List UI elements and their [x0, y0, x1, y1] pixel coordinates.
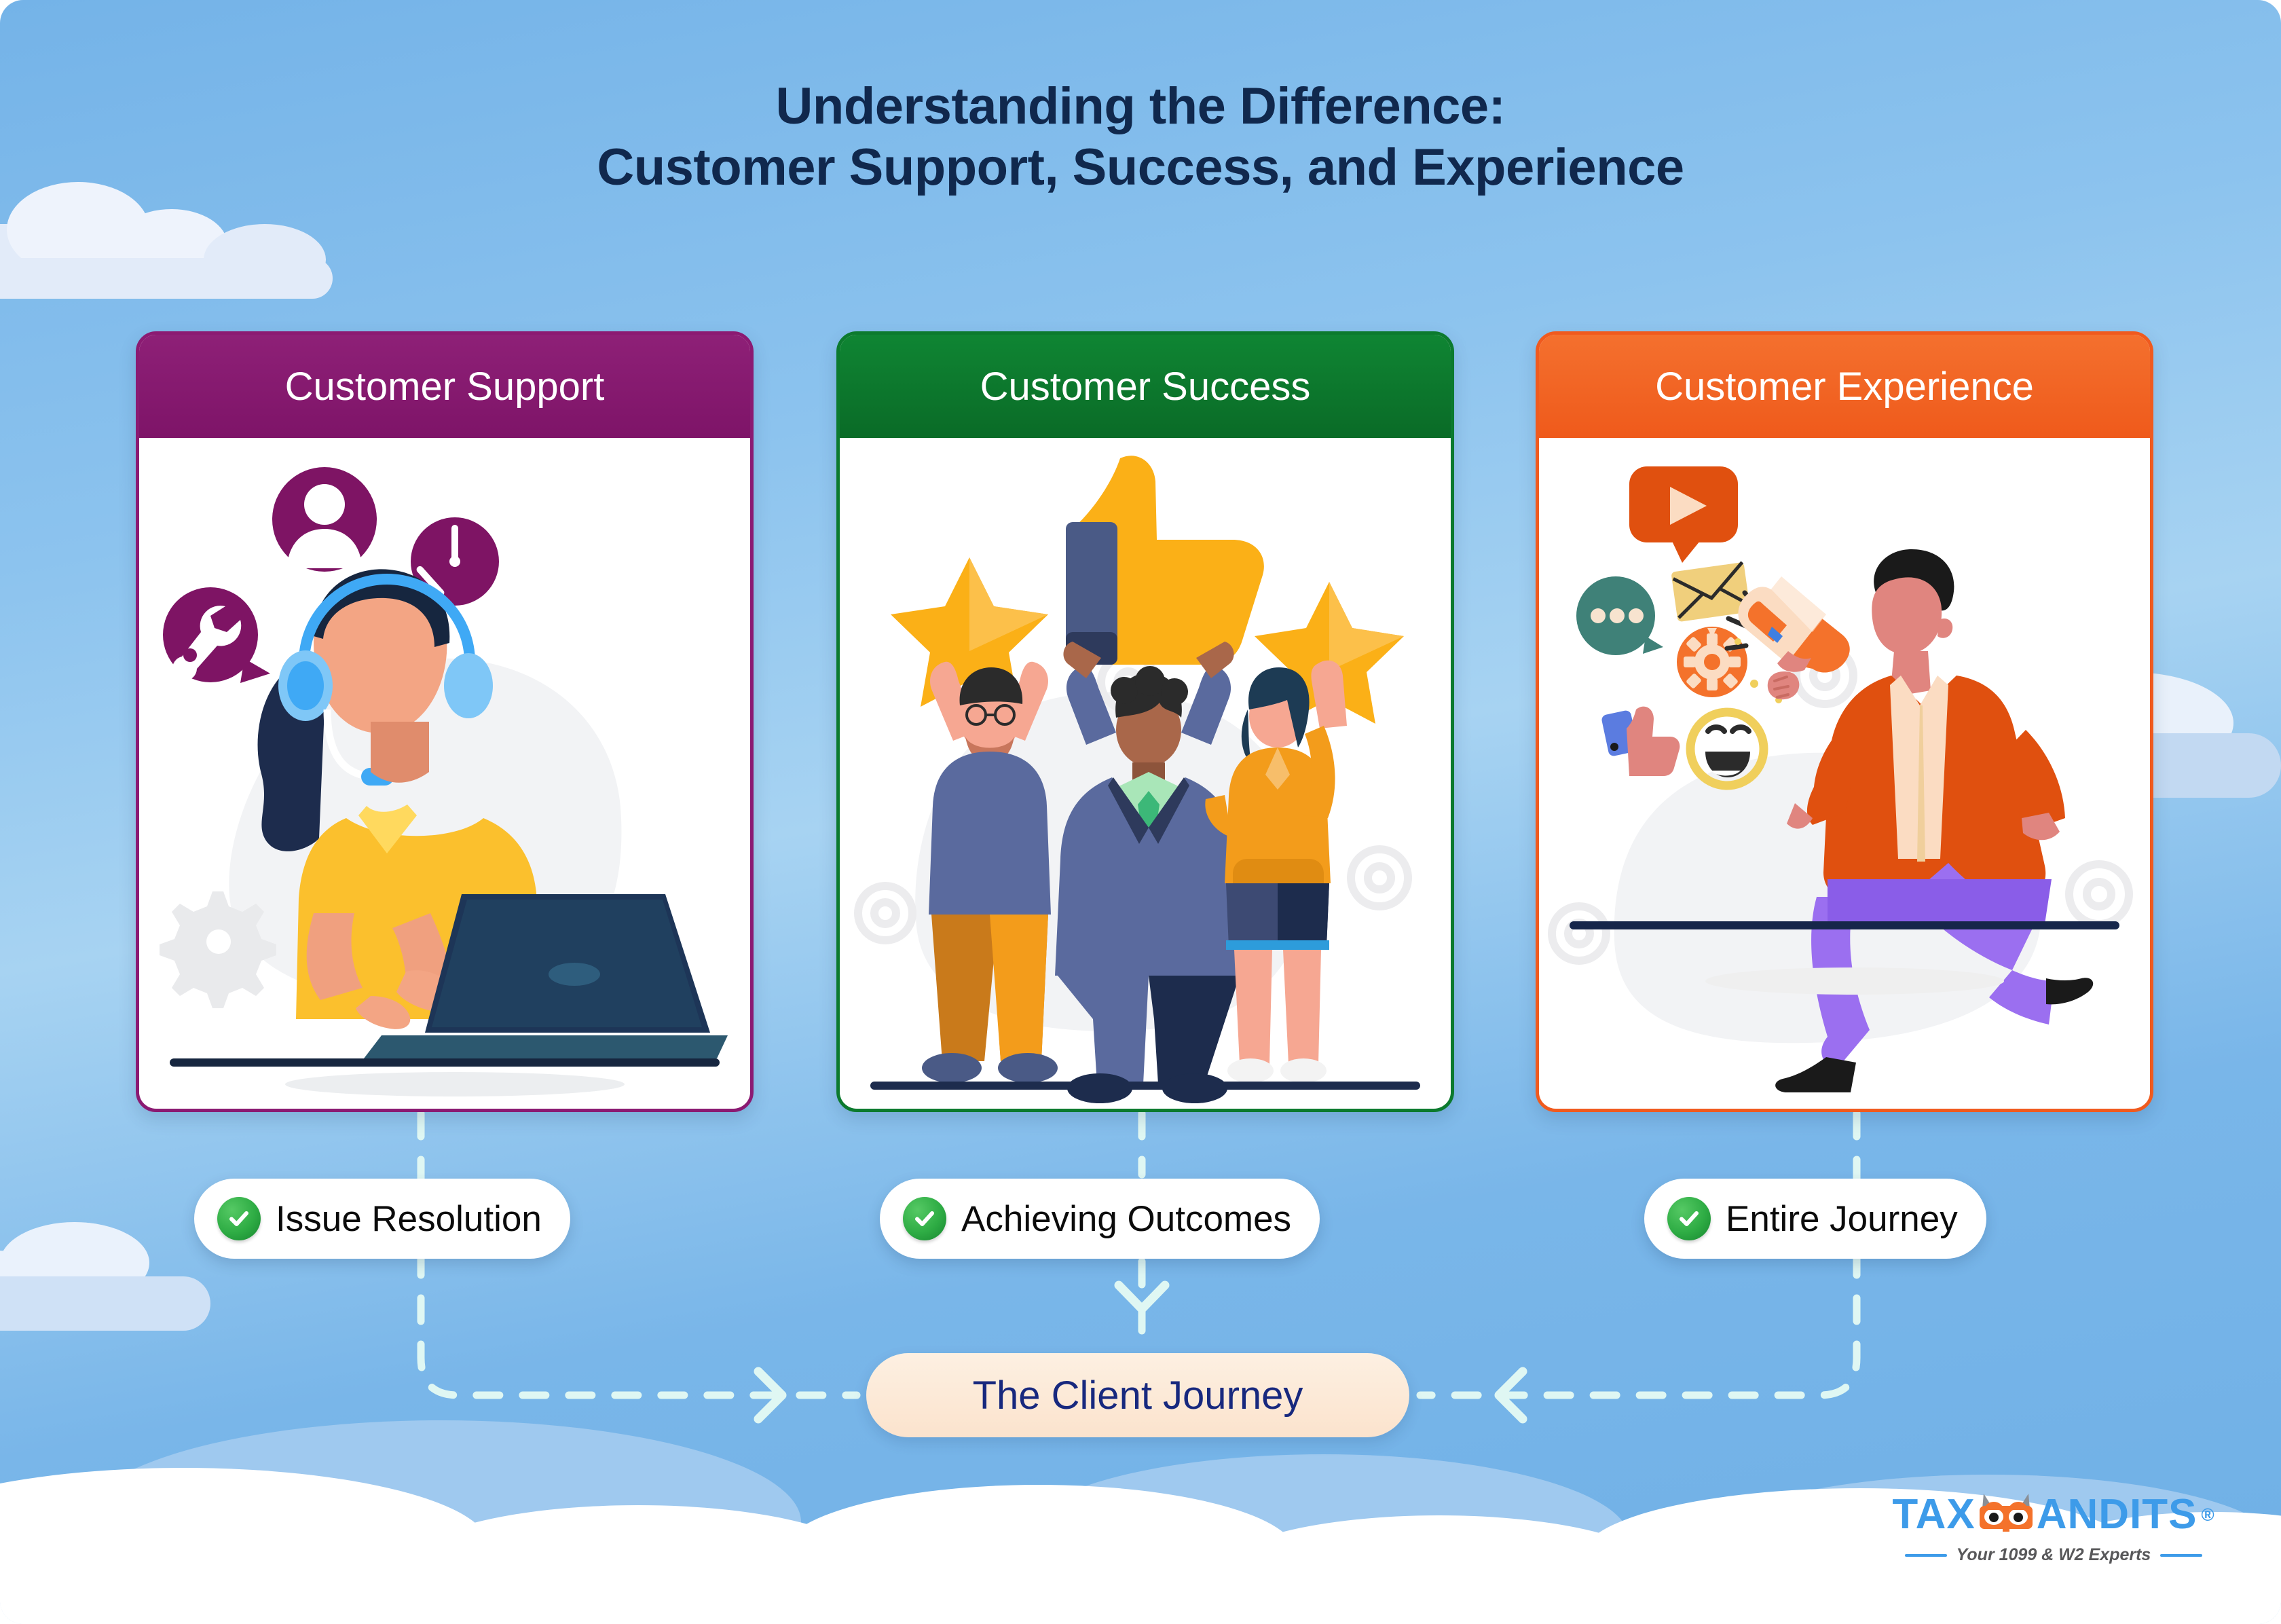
logo-word-left: TAX	[1892, 1494, 1975, 1536]
tagline-text: Your 1099 & W2 Experts	[1957, 1545, 2151, 1565]
wrench-speech-bubble-icon	[163, 587, 270, 683]
card-customer-support[interactable]: Customer Support	[136, 331, 754, 1112]
user-icon	[272, 467, 377, 572]
card-illustration-customer-support	[139, 438, 750, 1105]
card-header-customer-support: Customer Support	[139, 335, 750, 438]
logo-word-right: ANDITS	[2037, 1494, 2197, 1536]
card-illustration-customer-experience	[1539, 438, 2150, 1105]
card-customer-success[interactable]: Customer Success	[836, 331, 1454, 1112]
the-client-journey-node[interactable]: The Client Journey	[866, 1353, 1409, 1437]
page-title: Understanding the Difference: Customer S…	[0, 76, 2281, 198]
person-middle	[1055, 642, 1242, 1103]
card-illustration-customer-success	[840, 438, 1451, 1105]
badge-label: Issue Resolution	[276, 1198, 542, 1240]
badge-entire-journey[interactable]: Entire Journey	[1644, 1179, 1986, 1259]
check-icon	[217, 1197, 261, 1240]
tagline-rule-left	[1905, 1554, 1947, 1557]
badge-issue-resolution[interactable]: Issue Resolution	[194, 1179, 570, 1259]
badge-achieving-outcomes[interactable]: Achieving Outcomes	[880, 1179, 1320, 1259]
journey-label: The Client Journey	[973, 1373, 1303, 1418]
badge-label: Achieving Outcomes	[961, 1198, 1291, 1240]
title-line-1: Understanding the Difference:	[776, 77, 1506, 135]
gear-icon-orange	[1677, 627, 1747, 697]
tagline-rule-right	[2160, 1554, 2202, 1557]
card-header-customer-experience: Customer Experience	[1539, 335, 2150, 438]
logo-wordmark: TAX ANDITS ®	[1894, 1491, 2213, 1538]
registered-trademark-icon: ®	[2202, 1506, 2215, 1524]
bandit-mask-icon	[1977, 1494, 2035, 1538]
taxbandits-logo[interactable]: TAX ANDITS ® Your 1099	[1894, 1491, 2213, 1586]
gear-icon	[160, 891, 276, 1008]
infographic-canvas: Understanding the Difference: Customer S…	[0, 0, 2281, 1624]
check-icon	[1667, 1197, 1711, 1240]
chat-dots-icon	[1576, 576, 1663, 655]
logo-tagline: Your 1099 & W2 Experts	[1894, 1545, 2213, 1565]
title-line-2: Customer Support, Success, and Experienc…	[0, 137, 2281, 198]
check-icon	[903, 1197, 946, 1240]
thumbs-up-phone-icon	[1601, 707, 1680, 776]
card-header-customer-success: Customer Success	[840, 335, 1451, 438]
cloud-left-middle	[0, 1222, 231, 1341]
badge-label: Entire Journey	[1726, 1198, 1958, 1240]
card-customer-experience[interactable]: Customer Experience	[1536, 331, 2153, 1112]
play-bubble-icon	[1629, 466, 1738, 563]
smiley-icon	[1690, 712, 1764, 786]
